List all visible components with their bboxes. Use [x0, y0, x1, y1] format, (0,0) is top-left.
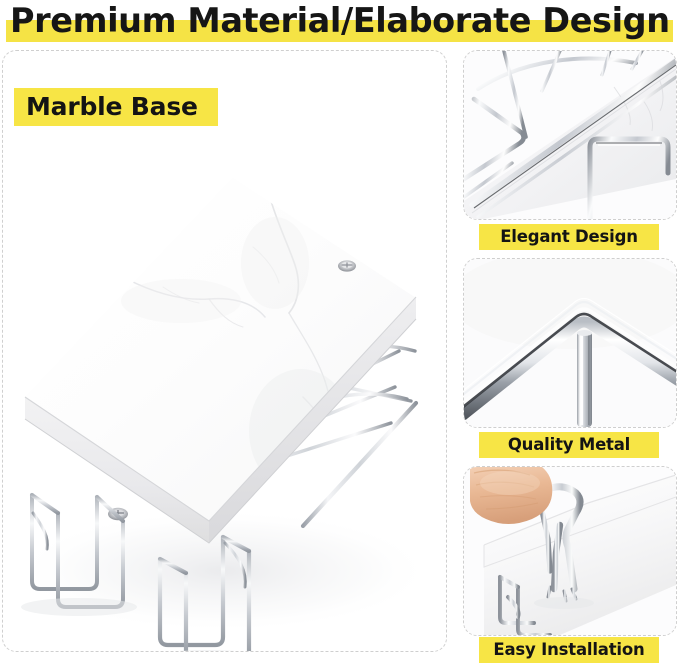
- panel-easy-installation: [463, 466, 677, 636]
- closeup-chrome-corner-joint: [464, 259, 676, 427]
- panel-quality-metal: [463, 258, 677, 428]
- closeup-wire-frame-over-marble: [464, 51, 676, 219]
- leg-shadow-left: [21, 598, 137, 616]
- fastener-screw-rear: [338, 260, 356, 271]
- caption-quality-metal: Quality Metal: [479, 432, 659, 458]
- closeup-hand-installing-leg: [464, 467, 676, 635]
- caption-easy-installation: Easy Installation: [479, 637, 659, 663]
- caption-elegant-design: Elegant Design: [479, 224, 659, 250]
- chrome-vertical-post: [577, 330, 592, 427]
- panel-marble-base: [2, 50, 447, 652]
- product-illustration-marble-riser: [3, 51, 446, 651]
- easy-installation-stage: [464, 467, 676, 635]
- page-title: Premium Material/Elaborate Design: [10, 0, 676, 42]
- marble-base-stage: [3, 51, 446, 651]
- header-banner: Premium Material/Elaborate Design: [0, 0, 679, 46]
- caption-marble-base: Marble Base: [14, 88, 218, 126]
- elegant-design-stage: [464, 51, 676, 219]
- panel-elegant-design: [463, 50, 677, 220]
- infographic-page: Premium Material/Elaborate Design: [0, 0, 679, 664]
- leg-contact-shadow: [534, 597, 594, 609]
- quality-metal-stage: [464, 259, 676, 427]
